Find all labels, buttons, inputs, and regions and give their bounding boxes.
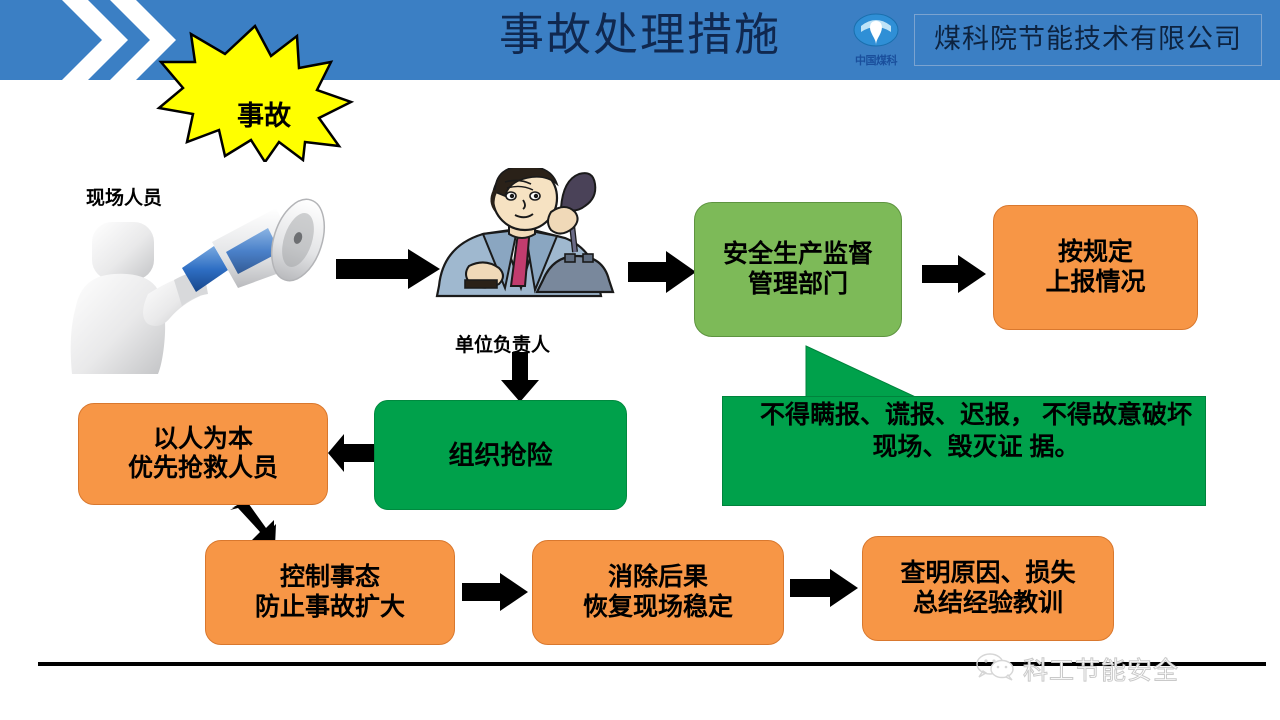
person-with-megaphone-icon [62,196,342,376]
arrow-rescue-to-people [326,433,380,473]
node-line: 安全生产监督 [723,240,873,270]
arrow-dept-to-report [922,254,988,294]
arrow-control-to-remove [462,572,530,612]
node-line: 上报情况 [1045,268,1145,298]
node-line: 消除后果 [583,563,733,593]
no-concealment-callout: 不得瞒报、谎报、迟报， 不得故意破坏现场、毁灭证 据。 [722,340,1214,512]
footer-watermark: 科工节能安全 [975,648,1275,690]
node-line: 按规定 [1045,238,1145,268]
accident-starburst [155,22,355,162]
man-on-telephone-icon [425,168,630,328]
logo-label: 中国煤科 [845,52,907,68]
arrow-leader-to-dept [628,250,698,294]
site-staff-label: 现场人员 [86,183,162,210]
ccri-emblem-icon [851,12,901,52]
node-line: 控制事态 [255,563,405,593]
node-line: 管理部门 [723,270,873,300]
company-name-box: 煤科院节能技术有限公司 [914,14,1262,66]
page-title: 事故处理措施 [455,2,825,72]
arrow-leader-down-to-rescue [498,352,542,404]
node-people-first[interactable]: 以人为本 优先抢救人员 [78,403,328,505]
watermark-text: 科工节能安全 [1023,651,1179,687]
node-line: 组织抢险 [448,440,552,471]
node-line: 总结经验教训 [900,589,1075,619]
callout-line: 不得瞒报、谎报、迟报， [760,401,1035,429]
node-control-situation[interactable]: 控制事态 防止事故扩大 [205,540,455,645]
node-line: 优先抢救人员 [128,454,278,484]
callout-text: 不得瞒报、谎报、迟报， 不得故意破坏现场、毁灭证 据。 [748,396,1204,508]
node-organize-rescue[interactable]: 组织抢险 [374,400,627,510]
node-report-as-required[interactable]: 按规定 上报情况 [993,205,1198,330]
node-identify-cause[interactable]: 查明原因、损失 总结经验教训 [862,536,1114,641]
node-remove-consequences[interactable]: 消除后果 恢复现场稳定 [532,540,784,645]
node-line: 防止事故扩大 [255,593,405,623]
arrow-remove-to-cause [790,568,860,608]
callout-line: 据。 [1029,433,1079,461]
node-line: 查明原因、损失 [900,559,1075,589]
slide-root: 事故处理措施 中国煤科 煤科院节能技术有限公司 事故 [0,0,1280,720]
node-line: 以人为本 [128,425,278,455]
arrow-site-to-leader [336,248,442,290]
wechat-icon [975,652,1015,687]
node-line: 恢复现场稳定 [583,593,733,623]
node-safety-supervision-dept[interactable]: 安全生产监督 管理部门 [694,202,902,337]
company-logo: 中国煤科 [845,12,907,74]
